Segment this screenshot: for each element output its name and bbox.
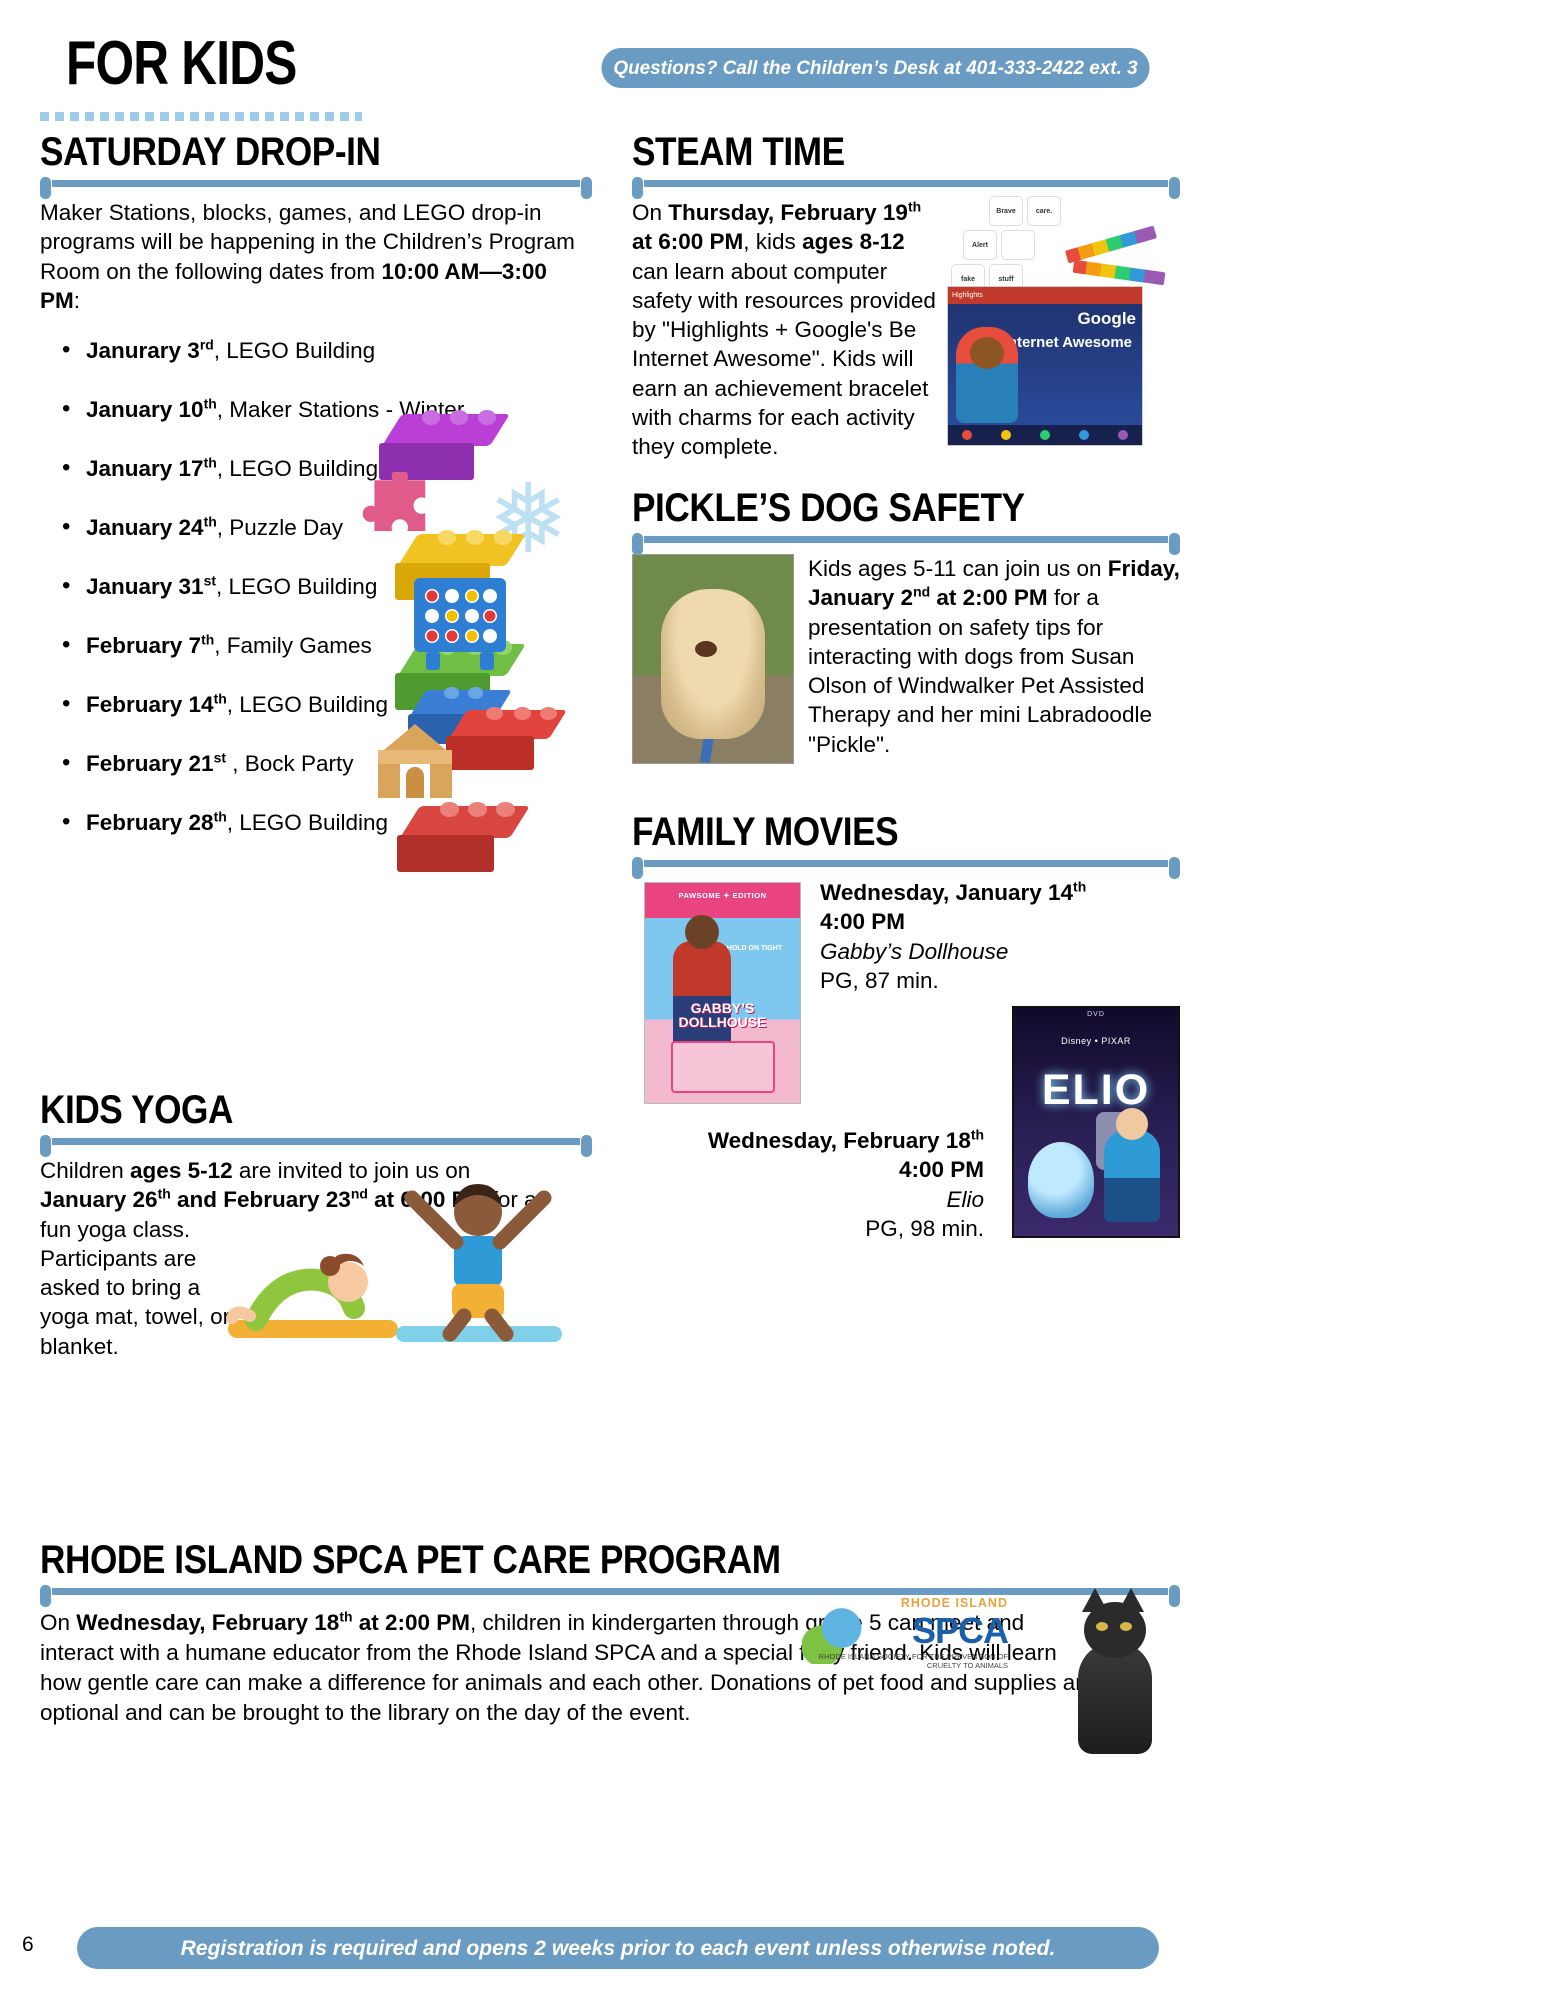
section-rule [40,1135,592,1146]
steam-time-heading: STEAM TIME [632,132,1114,172]
ordinal: th [214,690,227,706]
pickle-heading: PICKLE’S DOG SAFETY [632,488,1114,528]
dropin-date: January 17th [86,456,217,481]
poster-dot [962,430,972,440]
badge-row-top: Brave care. [989,196,1061,226]
yoga-t1: Children [40,1158,130,1183]
movie-1-day: Wednesday, January 14th [820,878,1086,907]
lego-red-icon [458,710,558,770]
rule-bar [644,536,1168,543]
cat-eye-right [1120,1622,1132,1631]
brick-stud [440,802,459,817]
cover-title: ELIO [1014,1066,1178,1115]
ordinal: th [158,1186,171,1202]
pickle-t1: Kids ages 5-11 can join us on [808,556,1108,581]
dropin-date: January 10th [86,397,217,422]
cat-head [1084,1602,1146,1658]
poster-hero-character [956,327,1018,423]
spca-logo: RHODE ISLAND SPCA RHODE ISLAND SOCIETY F… [802,1594,1008,1680]
cover-band: PAWSOME ✦ EDITION [645,891,800,900]
badge-brave: Brave [989,196,1023,226]
poster-footer [948,425,1142,445]
rule-cap-right [581,177,592,199]
dog-figure [661,589,765,739]
family-movies-section: FAMILY MOVIES PAWSOME ✦ EDITION HOLD ON … [632,812,1180,1298]
section-rule [632,857,1180,868]
black-cat-photo [1054,1586,1174,1754]
ordinal: th [214,808,227,824]
dropin-activity: Bock Party [245,751,354,776]
ordinal: th [204,454,217,470]
ordinal: th [908,199,921,215]
cat-eye-left [1096,1622,1108,1631]
ordinal: nd [351,1186,368,1202]
dropin-activity: LEGO Building [229,574,378,599]
kids-yoga-paragraph-2: Participants are asked to bring a yoga m… [40,1244,240,1361]
brick-front [397,835,494,872]
be-internet-awesome-poster: Highlights Google Be Internet Awesome [947,286,1143,446]
ordinal: st [214,749,226,765]
poster-dot [1001,430,1011,440]
steam-t2: , kids [743,229,802,254]
spca-body: On Wednesday, February 18th at 2:00 PM, … [40,1608,1180,1729]
brick-stud [444,687,459,699]
movie-2-title: Elio [632,1185,984,1214]
steam-ages: ages 8-12 [802,229,905,254]
ordinal: rd [200,336,214,352]
cover-alien-blob [1028,1142,1094,1218]
dropin-activity: LEGO Building [239,810,388,835]
google-wordmark: Google [1077,309,1136,329]
brick-stud [422,410,440,425]
dropin-date-item: Janurary 3rd, LEGO Building [40,338,592,364]
dropin-activity: LEGO Building [239,692,388,717]
rule-cap-left [632,857,643,879]
dropin-date: January 24th [86,515,217,540]
pickle-text: Kids ages 5-11 can join us on Friday, Ja… [808,554,1180,764]
dropin-date: Janurary 3rd [86,338,214,363]
spca-date: Wednesday, February 18th at 2:00 PM [76,1610,470,1635]
ordinal: th [339,1609,352,1625]
pencil-icon [1073,260,1166,286]
rule-cap-left [40,1135,51,1157]
brick-stud [466,530,484,545]
dropin-date: February 21st [86,751,226,776]
rule-bar [644,860,1168,867]
brick-stud [468,687,483,699]
section-rule [632,177,1180,188]
pickle-t2: for a presentation on safety tips for in… [808,585,1152,756]
spca-logo-main: SPCA [912,1610,1008,1652]
connect-four-icon [400,572,520,676]
movie-1-time: 4:00 PM [820,907,1086,936]
yoga-girl-icon [220,1208,408,1348]
kids-yoga-text: Children ages 5-12 are invited to join u… [40,1156,240,1361]
steam-time-text: On Thursday, February 19th at 6:00 PM, k… [632,198,937,461]
left-column: SATURDAY DROP-IN Maker Stations, blocks,… [40,132,592,869]
rule-cap-left [40,177,51,199]
pickle-dog-photo [632,554,794,764]
ordinal: th [1073,879,1086,895]
elio-dvd-cover: DVD Disney • PIXAR ELIO [1012,1006,1180,1238]
brick-stud [478,410,496,425]
brick-front [446,736,534,770]
page-number: 6 [22,1933,34,1957]
contact-banner: Questions? Call the Children’s Desk at 4… [601,48,1149,88]
dropin-date-item: January 10th, Maker Stations - Winter [40,397,592,423]
dropin-date: February 14th [86,692,227,717]
movie-2-rating: PG, 98 min. [632,1214,984,1243]
intro-text-b: : [74,288,80,313]
rule-bar [52,1138,580,1145]
cover-title: GABBY’S DOLLHOUSE [655,1001,790,1029]
cover-dollhouse [671,1041,775,1093]
page-header: FOR KIDS Questions? Call the Children’s … [0,0,1545,118]
rule-bar [644,180,1168,187]
badge-row-mid: Alert [963,230,1035,260]
page-title: FOR KIDS [66,28,297,99]
rule-cap-right [1169,533,1180,555]
kids-yoga-section: KIDS YOGA Children ages 5-12 are invited… [40,1090,592,1361]
cover-studio: Disney • PIXAR [1014,1036,1178,1046]
brick-stud [496,802,515,817]
movie-2-details: Wednesday, February 18th 4:00 PM Elio PG… [632,1126,984,1243]
section-rule [632,533,1180,544]
ordinal: th [201,631,214,647]
be-internet-awesome-graphic: Brave care. Alert fake stuff Highlights … [947,196,1180,446]
kids-yoga-heading: KIDS YOGA [40,1090,526,1130]
saturday-dropin-heading: SATURDAY DROP-IN [40,132,526,172]
movie-1-title: Gabby’s Dollhouse [820,937,1086,966]
steam-t3: can learn about computer safety with res… [632,259,936,460]
brick-stud [494,530,512,545]
ordinal: st [204,572,216,588]
movie-1-details: Wednesday, January 14th 4:00 PM Gabby’s … [820,878,1086,995]
kids-yoga-body: Children ages 5-12 are invited to join u… [40,1156,592,1361]
cat-body [1078,1642,1152,1754]
rule-cap-left [632,533,643,555]
movie-2-time: 4:00 PM [632,1155,984,1184]
movie-1-rating: PG, 87 min. [820,966,1086,995]
yoga-boy-icon [390,1176,566,1352]
spca-pet-care-section: RHODE ISLAND SPCA PET CARE PROGRAM On We… [40,1540,1180,1729]
dropin-activity: Family Games [227,633,372,658]
ordinal: nd [913,584,930,600]
pencil-icon [1065,226,1157,264]
dropin-activity: LEGO Building [229,456,378,481]
dropin-date: January 31st [86,574,216,599]
steam-time-section: STEAM TIME On Thursday, February 19th at… [632,132,1180,461]
brick-stud [468,802,487,817]
registration-note: Registration is required and opens 2 wee… [77,1927,1159,1969]
poster-dot [1040,430,1050,440]
brick-stud [450,410,468,425]
dropin-activity: LEGO Building [226,338,375,363]
saturday-dropin-intro: Maker Stations, blocks, games, and LEGO … [40,198,592,315]
spca-logo-top: RHODE ISLAND [901,1596,1008,1610]
spca-heading: RHODE ISLAND SPCA PET CARE PROGRAM [40,1540,1043,1580]
wooden-blocks-icon [372,722,458,802]
poster-topbar: Highlights [948,287,1142,304]
dropin-date: February 28th [86,810,227,835]
section-rule [40,177,592,188]
spca-logo-sub: RHODE ISLAND SOCIETY FOR THE PREVENTION … [802,1652,1008,1671]
brick-stud [438,530,456,545]
dropin-activity: Puzzle Day [229,515,343,540]
rule-cap-left [632,177,643,199]
ordinal: th [971,1127,984,1143]
lego-red2-icon [410,806,520,872]
lego-purple-icon [392,414,500,480]
yoga-ages: ages 5-12 [130,1158,233,1183]
section-rule [40,1585,1180,1596]
puzzle-piece-icon [358,472,440,554]
spca-t1: On [40,1610,76,1635]
dog-snout [695,641,717,657]
dropin-date: February 7th [86,633,214,658]
rule-cap-left [40,1585,51,1607]
ordinal: th [204,395,217,411]
badge-blank [1001,230,1035,260]
movie-2-day: Wednesday, February 18th [632,1126,984,1155]
poster-dot [1118,430,1128,440]
steam-t1: On [632,200,668,225]
cover-kid [1104,1130,1160,1222]
family-movies-heading: FAMILY MOVIES [632,812,1114,852]
ordinal: th [204,513,217,529]
rule-cap-right [1169,857,1180,879]
steam-time-body: On Thursday, February 19th at 6:00 PM, k… [632,198,1180,461]
poster-highlights-label: Highlights [952,292,983,299]
badge-care: care. [1027,196,1061,226]
rule-bar [52,180,580,187]
pickle-body: Kids ages 5-11 can join us on Friday, Ja… [632,554,1180,764]
cover-tagline: HOLD ON TIGHT [727,945,782,953]
poster-dot [1079,430,1089,440]
dotted-rule-decoration [40,112,362,121]
rule-cap-right [581,1135,592,1157]
gabbys-dollhouse-dvd-cover: PAWSOME ✦ EDITION HOLD ON TIGHT GABBY’S … [644,882,801,1104]
badge-alert: Alert [963,230,997,260]
family-movies-body: PAWSOME ✦ EDITION HOLD ON TIGHT GABBY’S … [632,878,1180,1298]
cover-dvd-label: DVD [1014,1011,1178,1018]
pickle-dog-safety-section: PICKLE’S DOG SAFETY Kids ages 5-11 can j… [632,488,1180,764]
